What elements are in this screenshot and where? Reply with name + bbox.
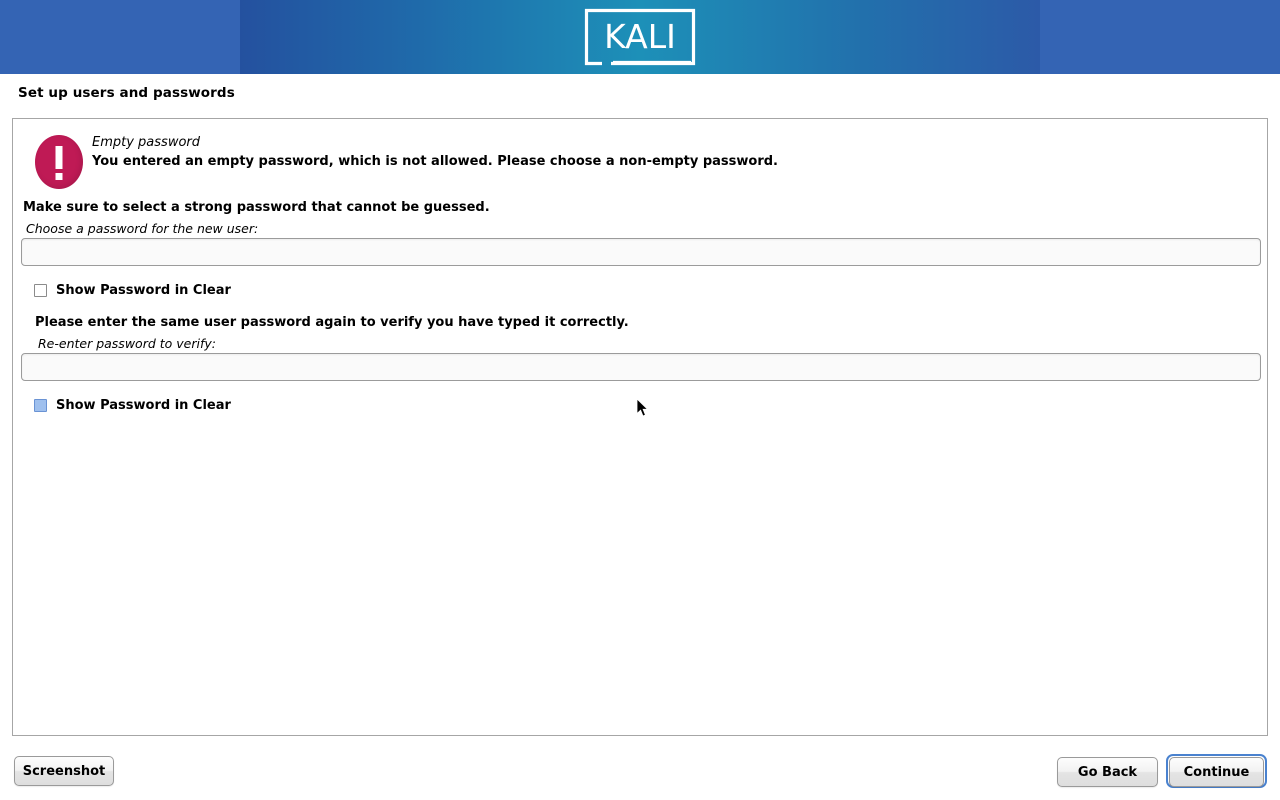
error-exclamation-icon xyxy=(35,135,83,189)
kali-logo-text: KALI xyxy=(583,8,697,66)
show-password-checkbox-row-1[interactable]: Show Password in Clear xyxy=(34,281,231,299)
verify-password-note: Please enter the same user password agai… xyxy=(35,315,629,330)
exclamation-dot xyxy=(56,173,63,180)
kali-header-banner: KALI xyxy=(0,0,1280,74)
go-back-button[interactable]: Go Back xyxy=(1057,757,1158,787)
screenshot-button[interactable]: Screenshot xyxy=(14,756,114,786)
installer-screen: KALI Set up users and passwords Empty pa… xyxy=(0,0,1280,800)
verify-password-input[interactable] xyxy=(21,353,1261,381)
error-title: Empty password xyxy=(92,135,200,150)
password-field-label: Choose a password for the new user: xyxy=(26,221,258,236)
content-panel: Empty password You entered an empty pass… xyxy=(12,118,1268,736)
show-password-checkbox-2[interactable] xyxy=(34,399,47,412)
continue-button[interactable]: Continue xyxy=(1169,757,1264,787)
page-title: Set up users and passwords xyxy=(18,85,235,101)
show-password-checkbox-1[interactable] xyxy=(34,284,47,297)
show-password-label-2: Show Password in Clear xyxy=(56,398,231,413)
password-input[interactable] xyxy=(21,238,1261,266)
exclamation-bar xyxy=(56,146,63,169)
kali-logo: KALI xyxy=(583,8,697,66)
show-password-checkbox-row-2[interactable]: Show Password in Clear xyxy=(34,396,231,414)
verify-field-label: Re-enter password to verify: xyxy=(38,336,216,351)
error-message: You entered an empty password, which is … xyxy=(92,154,778,169)
strong-password-note: Make sure to select a strong password th… xyxy=(23,200,490,215)
show-password-label-1: Show Password in Clear xyxy=(56,283,231,298)
error-message-block: Empty password You entered an empty pass… xyxy=(23,127,1253,189)
